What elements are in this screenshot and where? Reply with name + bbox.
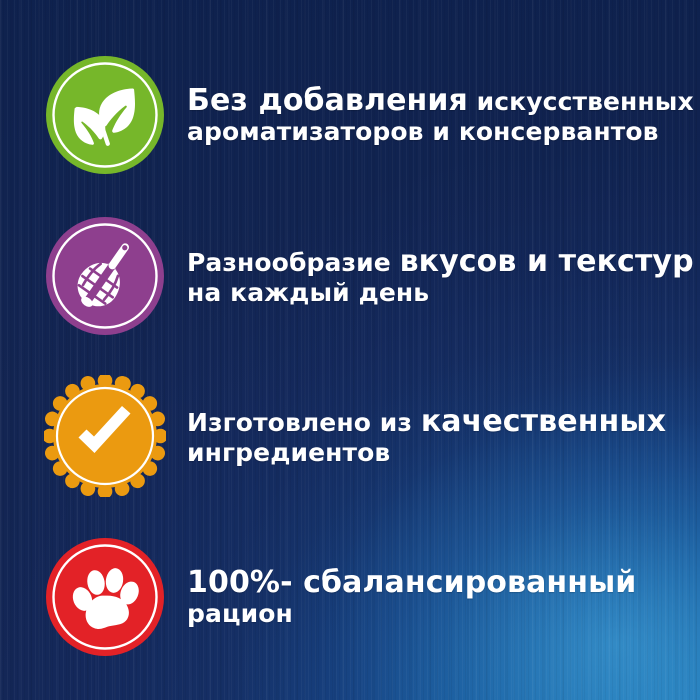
feature-line-2: ингредиентов (187, 439, 666, 467)
feature-line-1-regular: искусственных (468, 87, 694, 116)
feature-line-1-strong: Без добавления (187, 83, 468, 118)
feature-line-2: ароматизаторов и консервантов (187, 118, 692, 146)
feature-text: Разнообразие вкусов и текстур на каждый … (187, 245, 692, 308)
feature-line-1: Без добавления искусственных (187, 84, 692, 118)
feature-line-1-strong: вкусов и текстур (400, 244, 694, 279)
paw-icon (44, 536, 166, 658)
feature-text: 100%- сбалансированный рацион (187, 566, 636, 629)
feature-line-1-regular: Разнообразие (187, 248, 400, 277)
checkmark-icon (44, 375, 166, 497)
feature-line-1-regular: Изготовлено из (187, 408, 421, 437)
list-item: Без добавления искусственных ароматизато… (0, 44, 700, 186)
feature-line-1: 100%- сбалансированный (187, 566, 636, 600)
feature-line-1-strong: качественных (421, 404, 666, 439)
feature-text: Изготовлено из качественных ингредиентов (187, 405, 666, 468)
list-item: 100%- сбалансированный рацион (0, 526, 700, 668)
feature-line-2: рацион (187, 600, 636, 628)
promo-poster: Без добавления искусственных ароматизато… (0, 0, 700, 700)
feature-line-1: Изготовлено из качественных (187, 405, 666, 439)
list-item: Изготовлено из качественных ингредиентов (0, 365, 700, 507)
feature-line-2: на каждый день (187, 279, 692, 307)
whisk-icon (44, 215, 166, 337)
feature-text: Без добавления искусственных ароматизато… (187, 84, 692, 147)
feature-line-1-strong: 100%- сбалансированный (187, 565, 636, 600)
list-item: Разнообразие вкусов и текстур на каждый … (0, 205, 700, 347)
feature-line-1: Разнообразие вкусов и текстур (187, 245, 692, 279)
leaf-icon (44, 54, 166, 176)
